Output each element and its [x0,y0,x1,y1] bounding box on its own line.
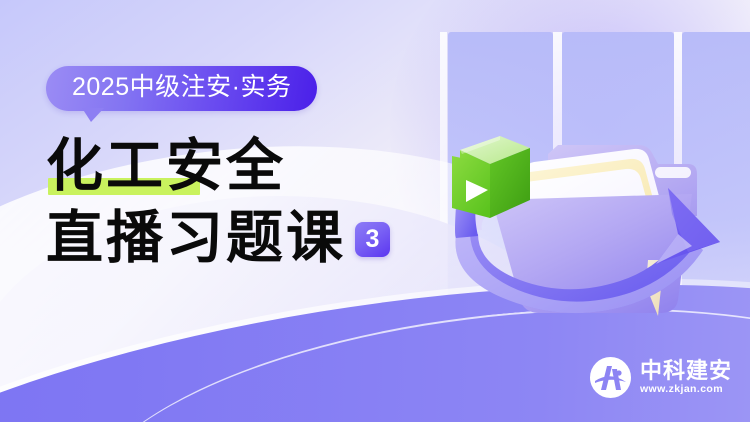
brand-name: 中科建安 [640,360,732,382]
brand-logo-text: 中科建安 www.zkjan.com [640,360,732,395]
brand-url: www.zkjan.com [640,384,732,395]
brand-logo[interactable]: 中科建安 www.zkjan.com [590,357,732,398]
headline-block: 化工安全 直播习题课 3 [46,133,466,273]
illustration-folder-play [420,28,750,338]
headline-line-1: 化工安全 [46,135,286,198]
headline-line-1-wrapper: 化工安全 [46,133,286,201]
banner-content: 2025中级注安·实务 化工安全 直播习题课 3 [46,66,466,273]
headline-line-2-wrapper: 直播习题课 3 [46,205,466,273]
episode-badge: 3 [355,222,390,257]
zkjan-circle-logo-icon [590,357,631,398]
tag-pointer-tail [82,108,104,122]
headline-line-2: 直播习题课 [46,205,346,273]
course-tag: 2025中级注安·实务 [46,66,317,111]
course-banner: 2025中级注安·实务 化工安全 直播习题课 3 [0,0,750,422]
course-tag-wrapper: 2025中级注安·实务 [46,66,317,111]
